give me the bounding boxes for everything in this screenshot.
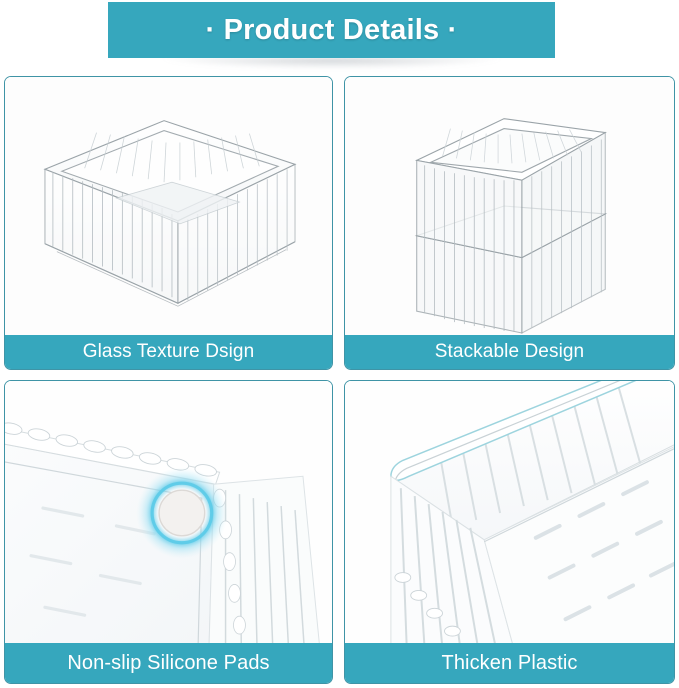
panel-glass-texture-photo [5, 77, 332, 335]
thick-plastic-corner-illustration [345, 381, 674, 643]
silicone-pad-closeup-illustration [5, 381, 332, 643]
page-header: · Product Details · [0, 0, 679, 72]
panel-stackable-label: Stackable Design [345, 335, 674, 369]
page-title: · Product Details · [206, 14, 458, 47]
panel-thicken-plastic-photo [345, 381, 674, 643]
panel-glass-texture: Glass Texture Dsign [4, 76, 333, 370]
panel-stackable-photo [345, 77, 674, 335]
panel-silicone-pads-photo [5, 381, 332, 643]
panel-silicone-pads-label: Non-slip Silicone Pads [5, 643, 332, 683]
stacked-bins-illustration [345, 77, 674, 335]
ribbed-bin-angled-illustration [5, 77, 332, 335]
panel-glass-texture-label-text: Glass Texture Dsign [83, 341, 255, 363]
header-banner: · Product Details · [108, 2, 555, 58]
panel-stackable-label-text: Stackable Design [435, 341, 584, 363]
panel-silicone-pads-label-text: Non-slip Silicone Pads [67, 652, 269, 675]
product-details-grid: Glass Texture Dsign [0, 74, 679, 688]
panel-glass-texture-label: Glass Texture Dsign [5, 335, 332, 369]
silicone-pad-highlight [136, 467, 227, 558]
panel-thicken-plastic-label: Thicken Plastic [345, 643, 674, 683]
panel-thicken-plastic-label-text: Thicken Plastic [442, 652, 578, 675]
panel-thicken-plastic: Thicken Plastic [344, 380, 675, 684]
panel-silicone-pads: Non-slip Silicone Pads [4, 380, 333, 684]
header-shadow [116, 58, 548, 72]
panel-stackable: Stackable Design [344, 76, 675, 370]
